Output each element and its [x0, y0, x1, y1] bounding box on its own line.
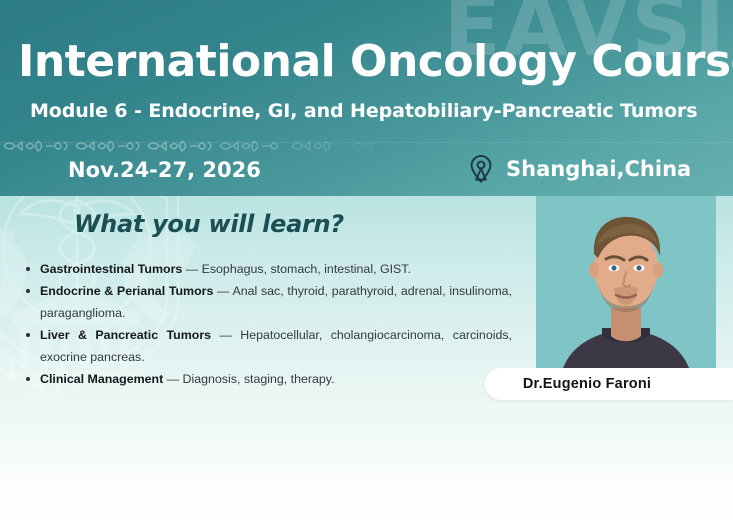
bullet-term: Liver & Pancreatic Tumors — [40, 328, 211, 342]
bullet-detail: Diagnosis, staging, therapy. — [183, 372, 335, 386]
header-divider — [0, 142, 733, 143]
ornamental-divider — [0, 138, 430, 153]
bullet-detail: Esophagus, stomach, intestinal, GIST. — [202, 262, 411, 276]
speaker-nameplate: Dr.Eugenio Faroni — [485, 368, 733, 400]
list-item: Clinical Management — Diagnosis, staging… — [40, 368, 512, 390]
bullet-term: Clinical Management — [40, 372, 163, 386]
section-heading: What you will learn? — [74, 210, 344, 238]
list-item: Gastrointestinal Tumors — Esophagus, sto… — [40, 258, 512, 280]
bullet-dash: — — [211, 328, 240, 342]
bullet-dash: — — [182, 262, 201, 276]
speaker-name: Dr.Eugenio Faroni — [523, 376, 695, 392]
poster-canvas: E A V S I EAVSI International Oncology C… — [0, 0, 733, 524]
speaker-photo — [536, 196, 716, 392]
poster-header: EAVSI International Oncology Course Modu… — [0, 0, 733, 196]
list-item: Liver & Pancreatic Tumors — Hepatocellul… — [40, 324, 512, 368]
bullet-dash: — — [163, 372, 182, 386]
event-date: Nov.24-27, 2026 — [68, 158, 261, 182]
event-city: Shanghai,China — [506, 157, 691, 181]
learning-objectives-list: Gastrointestinal Tumors — Esophagus, sto… — [18, 258, 512, 390]
bullet-dash: — — [213, 284, 232, 298]
map-pin-icon — [468, 154, 494, 184]
list-item: Endocrine & Perianal Tumors — Anal sac, … — [40, 280, 512, 324]
svg-text:A: A — [0, 334, 5, 369]
bullet-term: Endocrine & Perianal Tumors — [40, 284, 213, 298]
page-title: International Oncology Course — [18, 40, 733, 84]
event-location: Shanghai,China — [468, 154, 691, 184]
bullet-term: Gastrointestinal Tumors — [40, 262, 182, 276]
page-subtitle: Module 6 - Endocrine, GI, and Hepatobili… — [30, 100, 697, 123]
event-meta-row: Nov.24-27, 2026 Shanghai,China — [0, 152, 733, 196]
